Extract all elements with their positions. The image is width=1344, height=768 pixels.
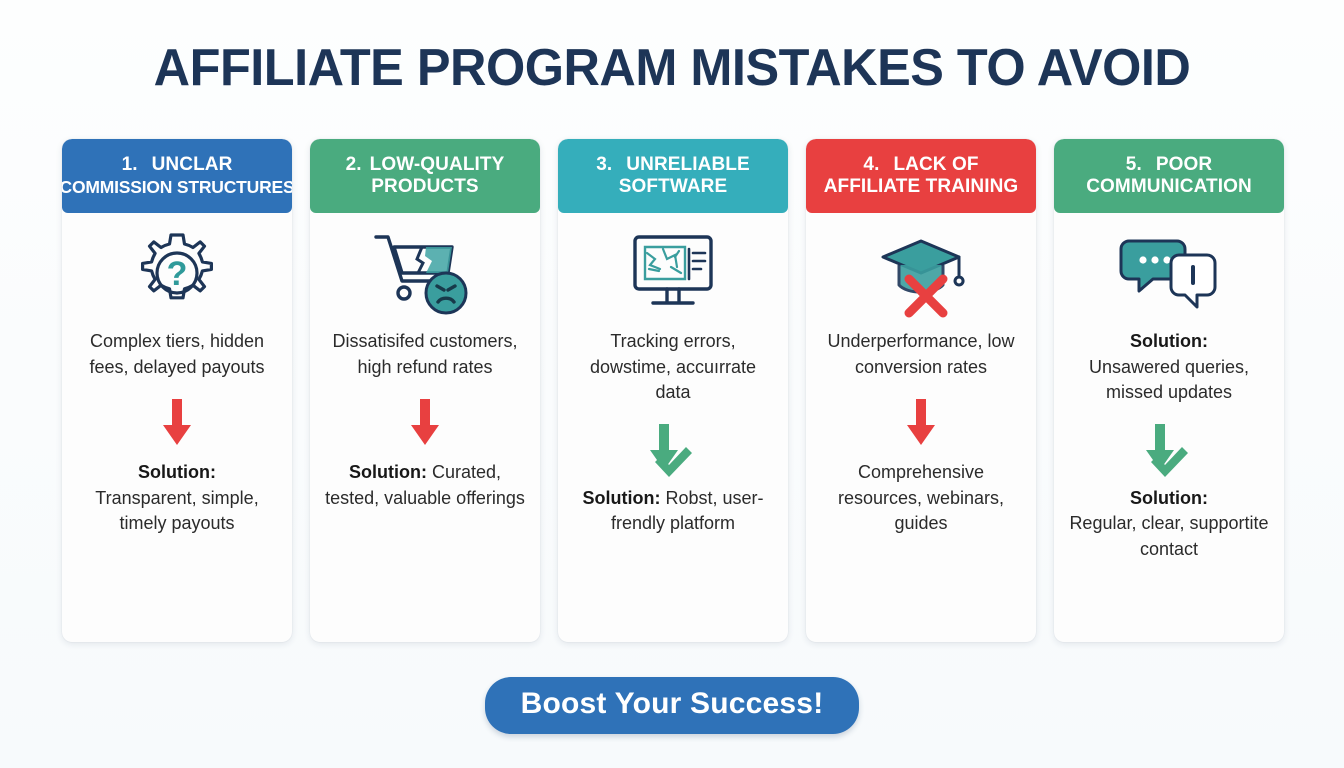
card-number-2: 2. <box>346 154 362 175</box>
mistake-card-3[interactable]: 3.UNRELIABLE SOFTWARE Tracking errors, d… <box>558 139 788 642</box>
infographic-page: AFFILIATE PROGRAM MISTAKES TO AVOID 1.UN… <box>0 0 1344 768</box>
down-arrow-red-icon-1 <box>154 395 200 451</box>
solution-label-3: Solution: <box>582 488 660 508</box>
icon-slot-4 <box>806 213 1036 333</box>
problem-text-3: Tracking errors, dowstime, accuırrate da… <box>570 329 776 406</box>
card-header-line1-row-3: 3.UNRELIABLE <box>596 154 750 176</box>
card-title-line1-2: LOW-QUALITY <box>370 154 505 175</box>
svg-text:?: ? <box>167 255 188 293</box>
icon-slot-2 <box>310 213 540 333</box>
card-title-line1-1: UNCLAR <box>152 154 233 175</box>
solution-body-4: Comprehensive resources, webinars, guide… <box>838 462 1004 533</box>
card-header-line1-row-1: 1.UNCLAR <box>122 154 233 176</box>
solution-body-5: Regular, clear, supportite contact <box>1069 513 1268 559</box>
card-header-line1-row-2: 2.LOW-QUALITY <box>346 154 505 176</box>
icon-slot-1: ? <box>62 213 292 333</box>
card-header-5: 5.POOR COMMUNICATION <box>1054 139 1284 213</box>
solution-text-1: Solution: Transparent, simple, timely pa… <box>74 460 280 537</box>
solution-text-3: Solution: Robst, user-frendly platform <box>570 486 776 537</box>
icon-slot-3 <box>558 213 788 333</box>
card-title-line2-3: SOFTWARE <box>619 176 727 198</box>
arrow-slot-1 <box>62 380 292 466</box>
solution-text-4: Comprehensive resources, webinars, guide… <box>818 460 1024 537</box>
problem-label-5: Solution: <box>1130 331 1208 351</box>
card-title-line2-1: COMMISSION STRUCTURES <box>62 176 292 198</box>
cta-wrap: Boost Your Success! <box>0 677 1344 734</box>
mistake-card-1[interactable]: 1.UNCLAR COMMISSION STRUCTURES ? Complex… <box>62 139 292 642</box>
card-title-line2-4: AFFILIATE TRAINING <box>824 176 1019 198</box>
broken-monitor-icon <box>623 227 723 319</box>
solution-label-1: Solution: <box>138 462 216 482</box>
gear-question-icon: ? <box>129 225 225 321</box>
solution-text-5: Solution: Regular, clear, supportite con… <box>1066 486 1272 563</box>
problem-body-5: Unsawered queries, missed updates <box>1089 357 1249 403</box>
card-title-line2-5: COMMUNICATION <box>1086 176 1252 198</box>
mistake-cards-row: 1.UNCLAR COMMISSION STRUCTURES ? Complex… <box>62 139 1284 642</box>
arrow-slot-5 <box>1054 406 1284 492</box>
mistake-card-5[interactable]: 5.POOR COMMUNICATION Solution: Unsawered… <box>1054 139 1284 642</box>
down-arrow-green-check-icon-3 <box>645 420 701 478</box>
card-header-3: 3.UNRELIABLE SOFTWARE <box>558 139 788 213</box>
card-header-line1-row-5: 5.POOR <box>1126 154 1212 176</box>
solution-label-2: Solution: <box>349 462 427 482</box>
graduation-cap-cross-icon <box>871 227 971 319</box>
card-number-1: 1. <box>122 154 138 175</box>
card-header-1: 1.UNCLAR COMMISSION STRUCTURES <box>62 139 292 213</box>
card-title-line1-5: POOR <box>1156 154 1212 175</box>
card-title-line1-4: LACK OF <box>893 154 978 175</box>
card-header-2: 2.LOW-QUALITY PRODUCTS <box>310 139 540 213</box>
card-number-5: 5. <box>1126 154 1142 175</box>
card-number-3: 3. <box>596 154 612 175</box>
arrow-slot-4 <box>806 380 1036 466</box>
speech-bubbles-icon <box>1119 229 1219 317</box>
icon-slot-5 <box>1054 213 1284 333</box>
mistake-card-4[interactable]: 4.LACK OF AFFILIATE TRAINING Underperfor… <box>806 139 1036 642</box>
solution-body-1: Transparent, simple, timely payouts <box>95 488 258 534</box>
solution-label-5: Solution: <box>1130 488 1208 508</box>
card-number-4: 4. <box>863 154 879 175</box>
arrow-slot-3 <box>558 406 788 492</box>
problem-text-2: Dissatisifed customers, high refund rate… <box>322 329 528 380</box>
card-title-line1-3: UNRELIABLE <box>626 154 749 175</box>
boost-your-success-button[interactable]: Boost Your Success! <box>485 677 860 734</box>
down-arrow-red-icon-4 <box>898 395 944 451</box>
page-title: AFFILIATE PROGRAM MISTAKES TO AVOID <box>20 38 1324 98</box>
problem-text-1: Complex tiers, hidden fees, delayed payo… <box>74 329 280 380</box>
down-arrow-red-icon-2 <box>402 395 448 451</box>
solution-text-2: Solution: Curated, tested, valuable offe… <box>322 460 528 511</box>
problem-text-5: Solution: Unsawered queries, missed upda… <box>1066 329 1272 406</box>
card-title-line2-2: PRODUCTS <box>371 176 478 198</box>
broken-cart-angry-face-icon <box>370 227 480 319</box>
card-header-line1-row-4: 4.LACK OF <box>863 154 978 176</box>
down-arrow-green-check-icon-5 <box>1141 420 1197 478</box>
mistake-card-2[interactable]: 2.LOW-QUALITY PRODUCTS Dissatisifed cust… <box>310 139 540 642</box>
card-header-4: 4.LACK OF AFFILIATE TRAINING <box>806 139 1036 213</box>
arrow-slot-2 <box>310 380 540 466</box>
problem-text-4: Underperformance, low conversion rates <box>818 329 1024 380</box>
